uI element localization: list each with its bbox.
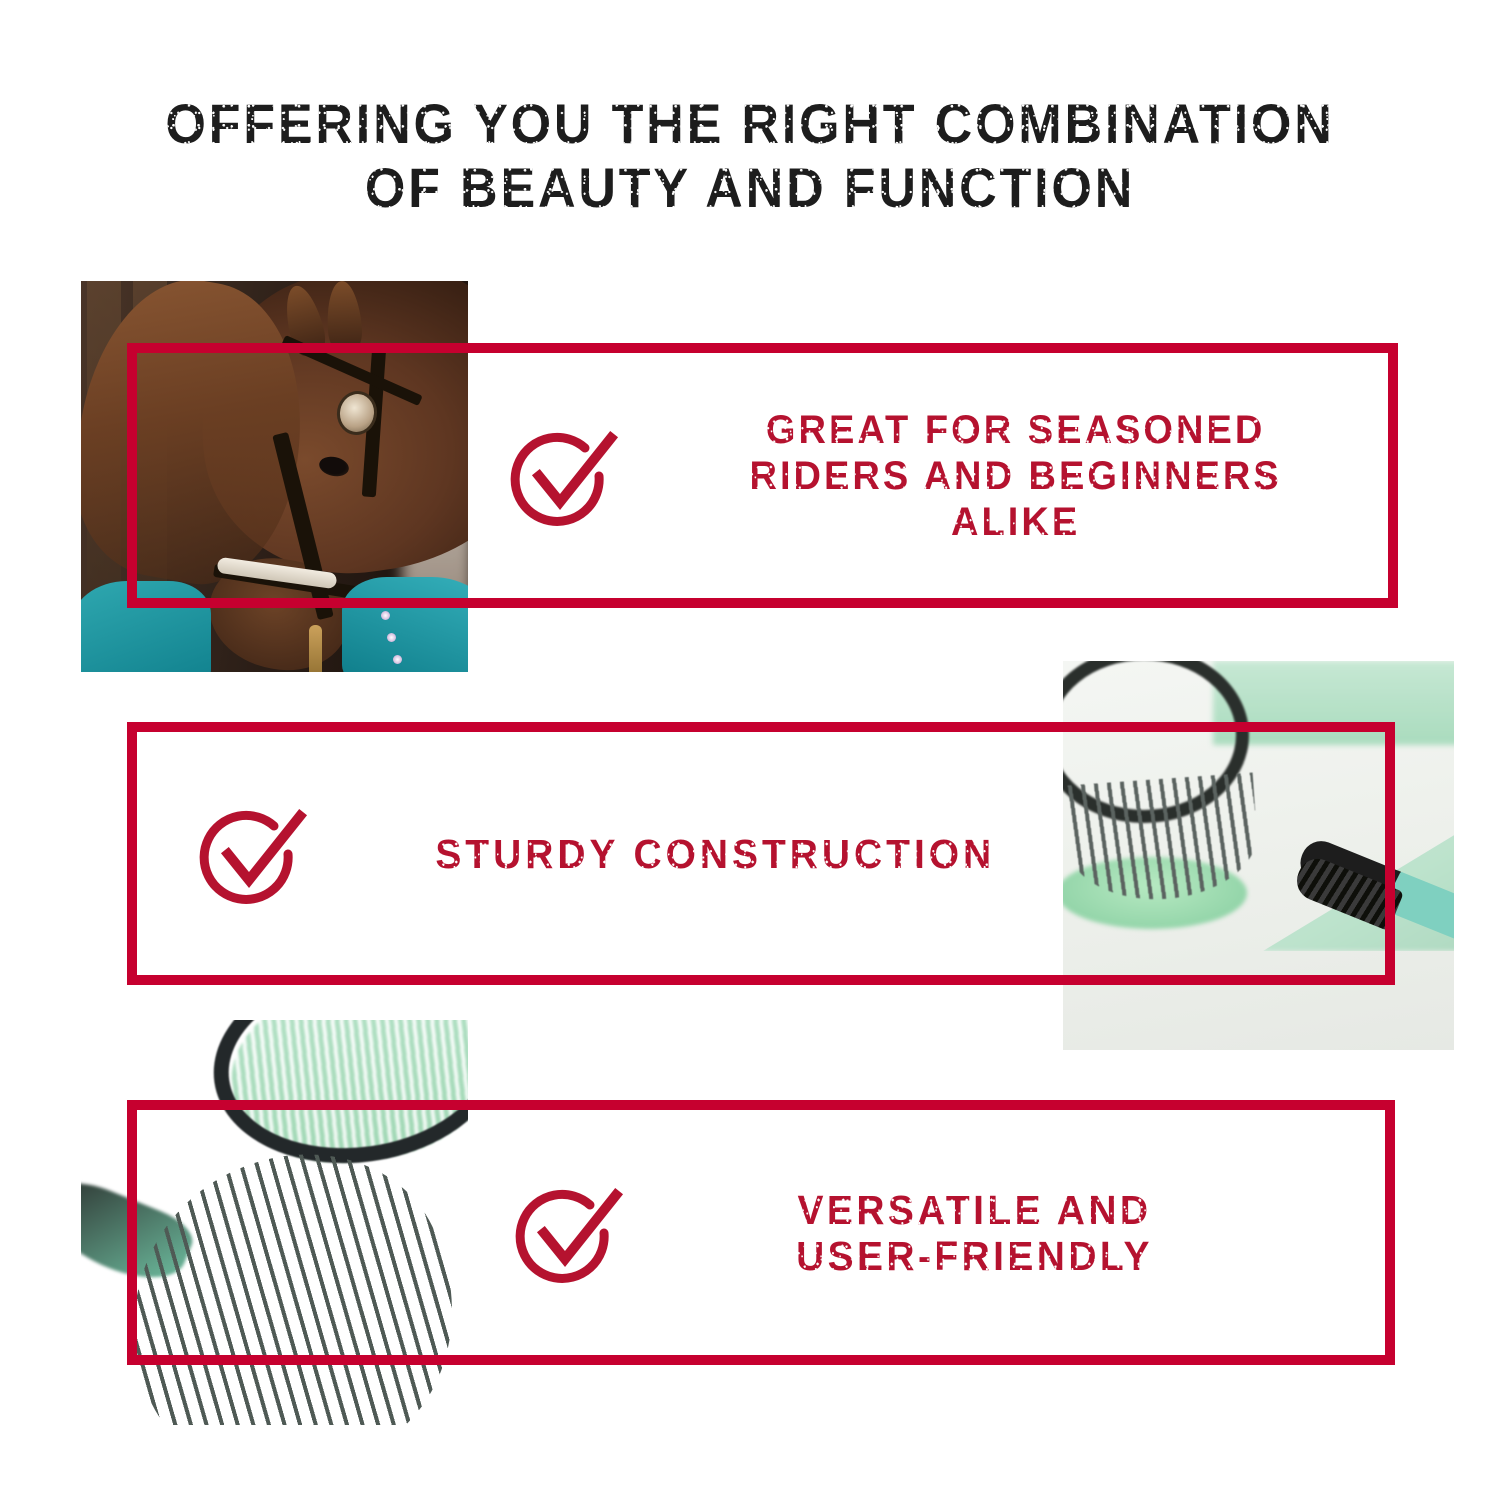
feature-item-seasoned-riders: GREAT FOR SEASONED RIDERS AND BEGINNERS … (468, 343, 1398, 608)
check-circle-icon (507, 420, 619, 532)
feature-item-versatile-user-friendly: VERSATILE AND USER-FRIENDLY (468, 1100, 1395, 1365)
page-title-line-2: OF BEAUTY AND FUNCTION (53, 156, 1448, 220)
feature-label-line-1: STURDY CONSTRUCTION (435, 831, 995, 877)
check-circle-icon-wrap (468, 1177, 668, 1289)
feature-label-line-2: USER-FRIENDLY (796, 1233, 1153, 1279)
check-circle-icon-wrap (468, 420, 658, 532)
check-circle-icon (196, 798, 308, 910)
feature-label-seasoned-riders: GREAT FOR SEASONED RIDERS AND BEGINNERS … (677, 407, 1380, 545)
feature-label-line-2: RIDERS AND BEGINNERS (749, 454, 1281, 498)
feature-item-sturdy-construction: STURDY CONSTRUCTION (127, 722, 1063, 985)
feature-label-versatile-user-friendly: VERSATILE AND USER-FRIENDLY (686, 1187, 1377, 1279)
page-title-line-1: OFFERING YOU THE RIGHT COMBINATION (53, 92, 1448, 156)
feature-label-sturdy-construction: STURDY CONSTRUCTION (394, 831, 1046, 877)
feature-label-line-1: VERSATILE AND (798, 1187, 1152, 1233)
check-circle-icon-wrap (127, 798, 377, 910)
feature-label-line-3: ALIKE (951, 500, 1080, 544)
feature-label-line-1: GREAT FOR SEASONED (766, 408, 1266, 452)
page-title: OFFERING YOU THE RIGHT COMBINATION OF BE… (0, 92, 1500, 220)
check-circle-icon (512, 1177, 624, 1289)
